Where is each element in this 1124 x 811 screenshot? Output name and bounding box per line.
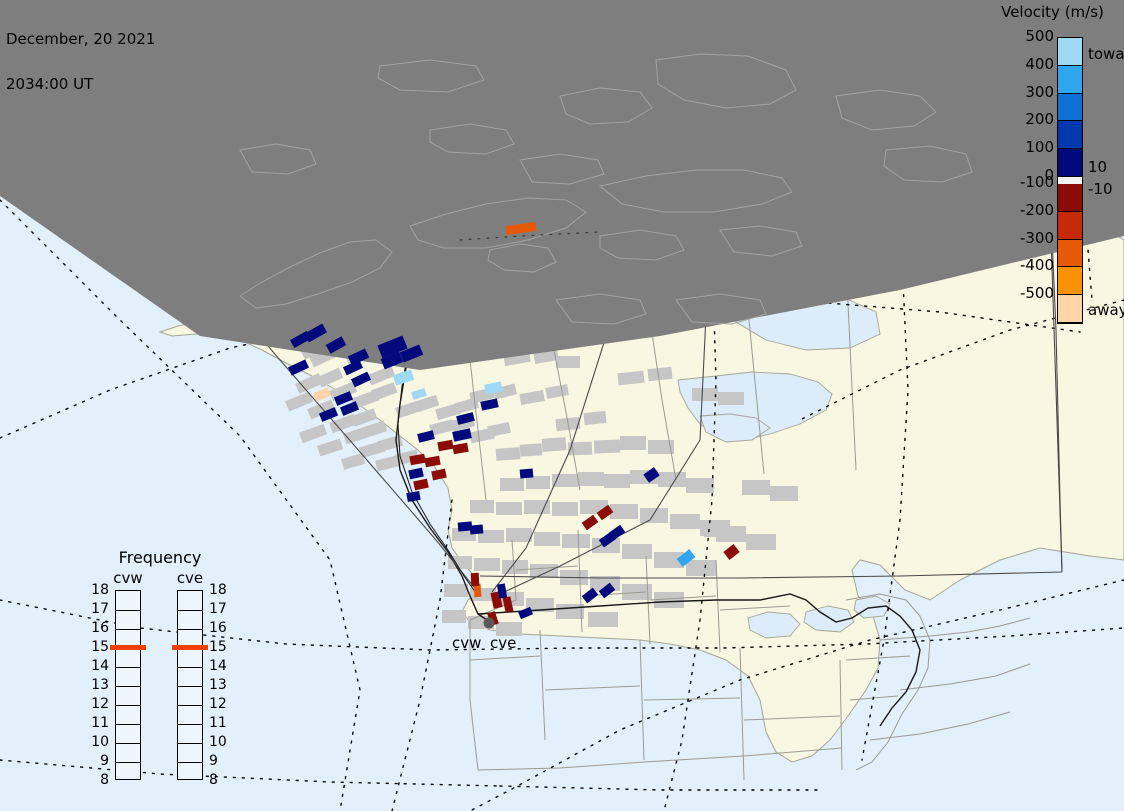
- velocity-band: [1058, 94, 1082, 122]
- frequency-tick-label: 11: [209, 716, 229, 730]
- velocity-colorbar: [1057, 37, 1083, 324]
- frequency-scale-cvw: [115, 590, 141, 780]
- frequency-tick-label: 12: [209, 697, 229, 711]
- frequency-tick-label: 14: [209, 659, 229, 673]
- velocity-inner-positive-label: 10: [1088, 160, 1107, 175]
- velocity-band: [1058, 295, 1082, 323]
- frequency-gridline: [116, 686, 140, 687]
- frequency-scale-cve: [177, 590, 203, 780]
- superdarn-fan-plot: December, 20 2021 2034:00 UT Velocity (m…: [0, 0, 1124, 811]
- frequency-tick-label: 15: [89, 640, 109, 654]
- velocity-band: [1058, 240, 1082, 268]
- frequency-tick-label: 15: [209, 640, 229, 654]
- frequency-gridline: [116, 629, 140, 630]
- velocity-tick-label: 100: [1025, 140, 1054, 155]
- velocity-legend: Velocity (m/s) 5004003002001000-100-200-…: [975, 0, 1124, 340]
- frequency-gridline: [178, 743, 202, 744]
- frequency-marker-cvw: [110, 645, 146, 650]
- frequency-tick-label: 18: [89, 583, 109, 597]
- velocity-band: [1058, 212, 1082, 240]
- frequency-tick-label: 8: [209, 773, 229, 787]
- velocity-inner-negative-label: -10: [1088, 182, 1113, 197]
- frequency-gridline: [116, 762, 140, 763]
- velocity-band: [1058, 267, 1082, 295]
- frequency-radar-name-cve: cve: [165, 569, 215, 587]
- velocity-cell: [470, 524, 484, 534]
- frequency-tick-label: 11: [89, 716, 109, 730]
- frequency-gridline: [178, 724, 202, 725]
- velocity-away-label: away: [1088, 303, 1124, 318]
- frequency-gridline: [178, 705, 202, 706]
- velocity-band: [1058, 149, 1082, 177]
- velocity-tick-label: -500: [1020, 286, 1054, 301]
- frequency-gridline: [116, 667, 140, 668]
- velocity-toward-label: toward: [1088, 47, 1124, 62]
- frequency-tick-label: 10: [209, 735, 229, 749]
- frequency-gridline: [116, 610, 140, 611]
- frequency-tick-label: 16: [89, 621, 109, 635]
- velocity-tick-label: -400: [1020, 258, 1054, 273]
- velocity-legend-title: Velocity (m/s): [981, 3, 1124, 21]
- timestamp-title: December, 20 2021 2034:00 UT: [6, 2, 155, 122]
- frequency-legend: Frequency cvw18171615141312111098cve1817…: [85, 545, 235, 790]
- frequency-gridline: [178, 686, 202, 687]
- frequency-gridline: [116, 705, 140, 706]
- frequency-gridline: [178, 629, 202, 630]
- velocity-band: [1058, 121, 1082, 149]
- frequency-tick-label: 13: [89, 678, 109, 692]
- velocity-tick-label: -100: [1020, 175, 1054, 190]
- velocity-tick-label: -200: [1020, 203, 1054, 218]
- frequency-tick-label: 9: [209, 754, 229, 768]
- frequency-marker-cve: [172, 645, 208, 650]
- velocity-tick-label: -300: [1020, 231, 1054, 246]
- velocity-band: [1058, 184, 1082, 212]
- velocity-tick-label: 500: [1025, 29, 1054, 44]
- frequency-radar-name-cvw: cvw: [103, 569, 153, 587]
- radar-site-marker: [484, 618, 495, 629]
- title-date: December, 20 2021: [6, 32, 155, 47]
- frequency-tick-label: 16: [209, 621, 229, 635]
- frequency-tick-label: 18: [209, 583, 229, 597]
- velocity-band: [1058, 66, 1082, 94]
- radar-site-label-cvw: cvw: [452, 636, 481, 651]
- velocity-cell: [520, 468, 534, 478]
- frequency-tick-label: 9: [89, 754, 109, 768]
- frequency-tick-label: 13: [209, 678, 229, 692]
- frequency-gridline: [178, 610, 202, 611]
- velocity-tick-label: 300: [1025, 85, 1054, 100]
- frequency-gridline: [178, 762, 202, 763]
- frequency-gridline: [116, 743, 140, 744]
- radar-site-label-cve: cve: [490, 636, 516, 651]
- frequency-legend-title: Frequency: [85, 548, 235, 567]
- frequency-gridline: [116, 724, 140, 725]
- frequency-gridline: [178, 667, 202, 668]
- velocity-band: [1058, 38, 1082, 66]
- velocity-cell: [471, 573, 480, 586]
- frequency-tick-label: 12: [89, 697, 109, 711]
- frequency-tick-label: 14: [89, 659, 109, 673]
- frequency-tick-label: 8: [89, 773, 109, 787]
- frequency-tick-label: 17: [209, 602, 229, 616]
- frequency-tick-label: 17: [89, 602, 109, 616]
- title-time: 2034:00 UT: [6, 77, 155, 92]
- velocity-tick-label: 400: [1025, 57, 1054, 72]
- velocity-band: [1058, 177, 1082, 184]
- frequency-tick-label: 10: [89, 735, 109, 749]
- velocity-tick-label: 200: [1025, 112, 1054, 127]
